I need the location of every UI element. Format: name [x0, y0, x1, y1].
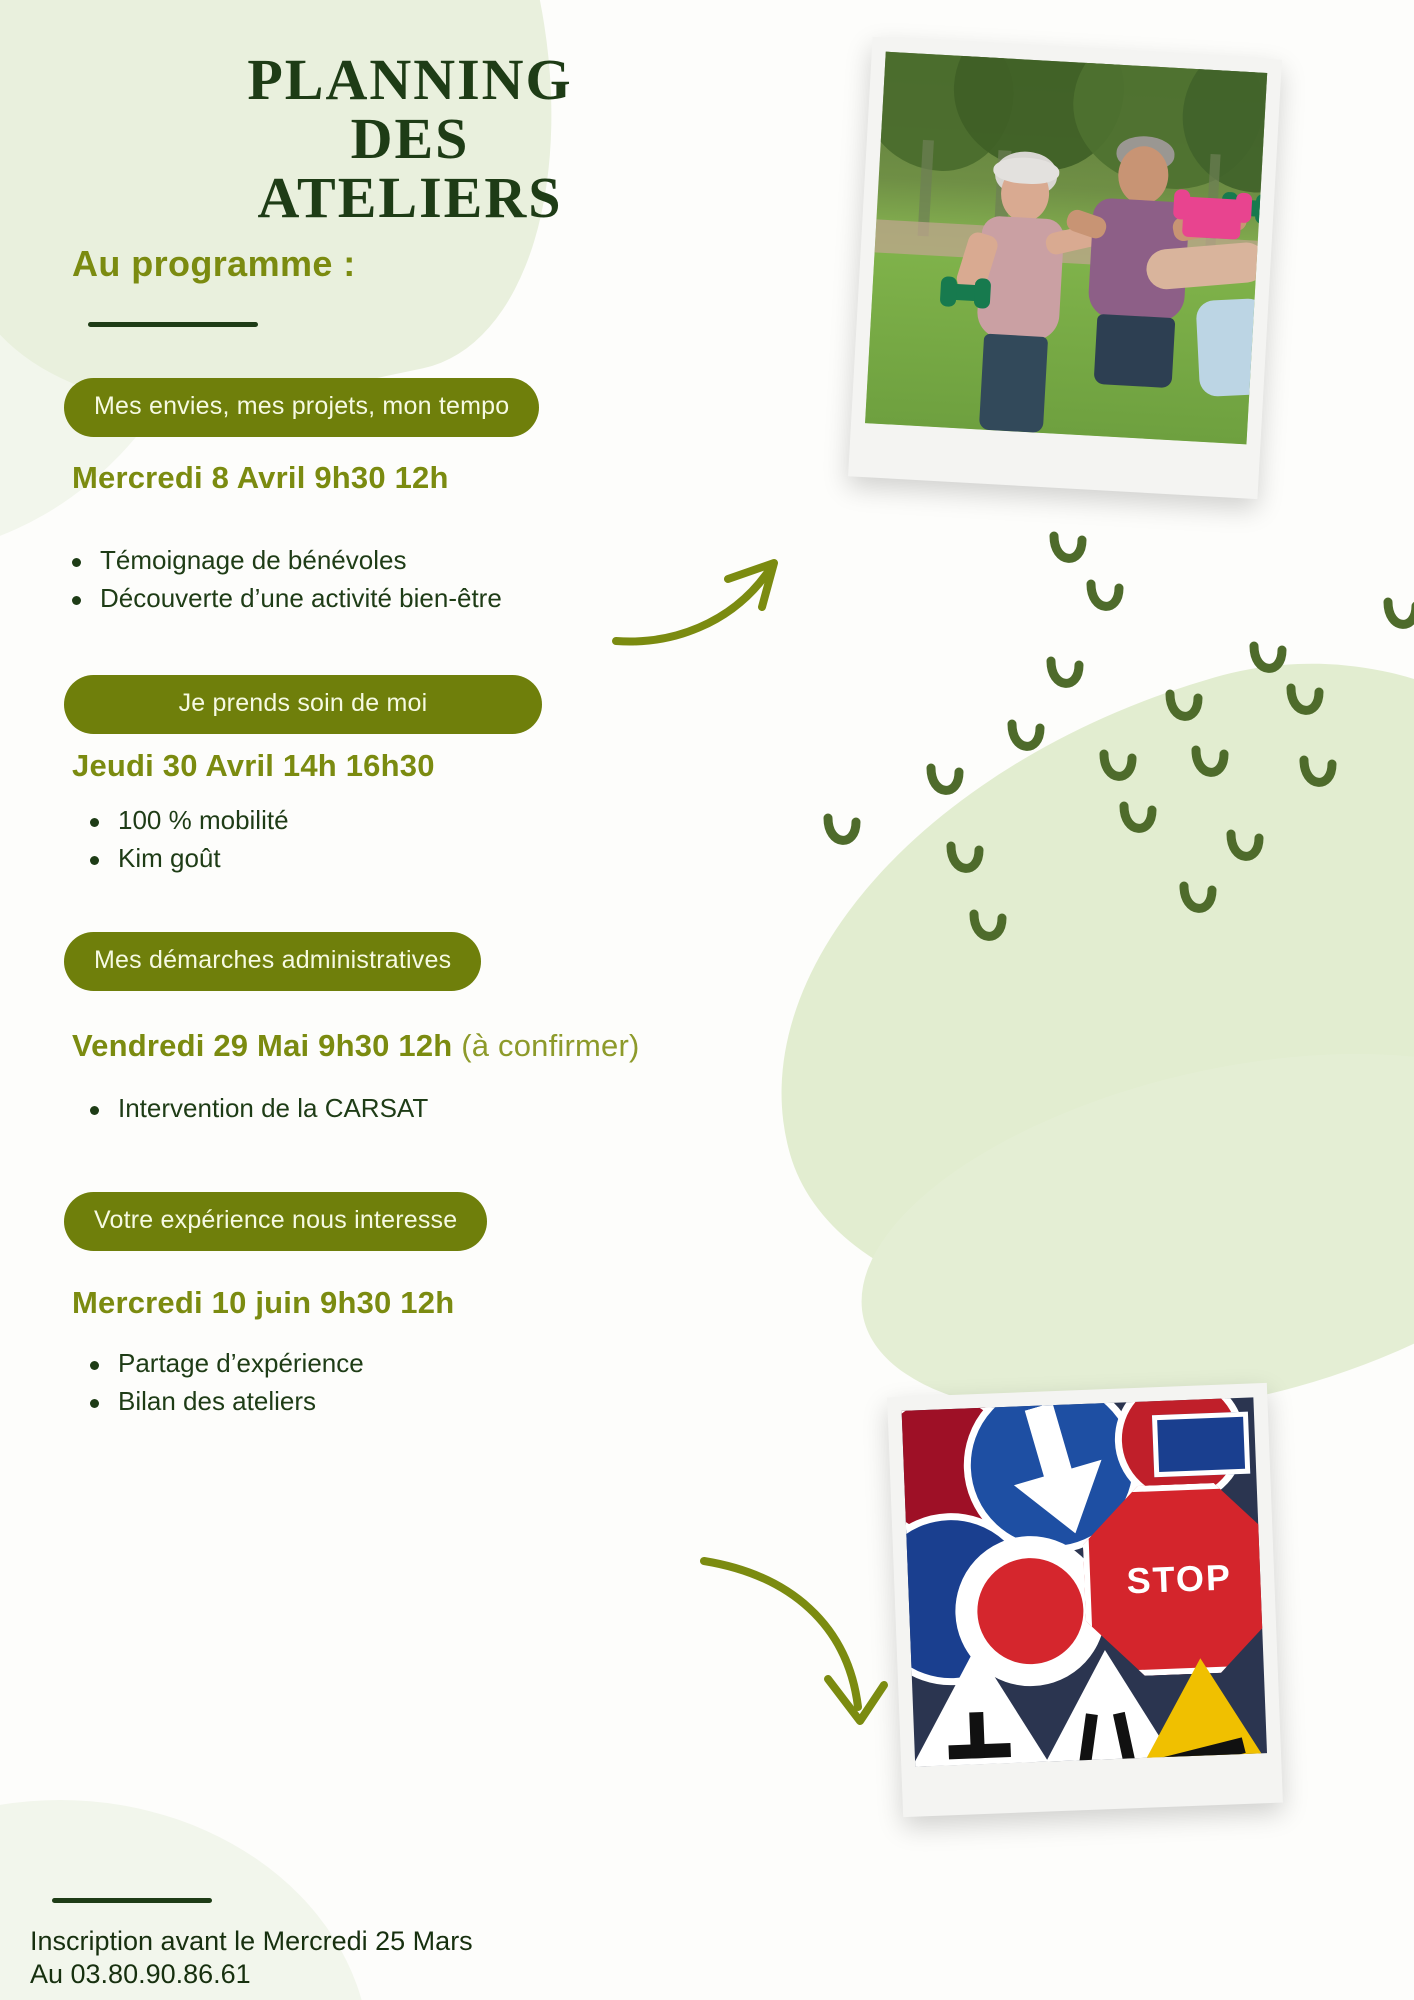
photo-card-road-signs: STOP: [887, 1383, 1283, 1817]
confetti-tick-icon: [1225, 828, 1265, 872]
confetti-tick-icon: [1085, 578, 1125, 622]
poster-canvas: PLANNING DES ATELIERS Au programme : Mes…: [0, 0, 1414, 2000]
list-item: Partage d’expérience: [84, 1345, 364, 1383]
foreground-sleeve: [1196, 298, 1268, 397]
page-title: PLANNING DES ATELIERS: [200, 50, 620, 227]
footer-contact: Inscription avant le Mercredi 25 Mars Au…: [30, 1925, 473, 1992]
sign-rect-blue: [1152, 1412, 1250, 1478]
section-bullets-2: 100 % mobilité Kim goût: [84, 802, 289, 878]
confetti-tick-icon: [945, 840, 985, 884]
section-pill-4: Votre expérience nous interesse: [64, 1192, 487, 1251]
confetti-tick-icon: [1285, 682, 1325, 726]
confetti-tick-icon: [925, 762, 965, 806]
list-item: Découverte d’une activité bien-être: [66, 580, 502, 618]
curved-arrow-down-icon: [700, 1555, 900, 1755]
image-traffic-signs: STOP: [902, 1397, 1267, 1766]
section-date-1: Mercredi 8 Avril 9h30 12h: [72, 460, 449, 496]
subtitle: Au programme :: [72, 243, 356, 285]
image-seniors-exercising: [865, 52, 1267, 445]
section-bullets-1: Témoignage de bénévoles Découverte d’une…: [66, 542, 502, 618]
section-bullets-4: Partage d’expérience Bilan des ateliers: [84, 1345, 364, 1421]
section-date-3: Vendredi 29 Mai 9h30 12h (à confirmer): [72, 1028, 640, 1064]
dumbbell-green: [950, 284, 981, 302]
divider-top: [88, 322, 258, 327]
confetti-tick-icon: [1006, 718, 1046, 762]
confetti-tick-icon: [1045, 655, 1085, 699]
confetti-tick-icon: [1248, 640, 1288, 684]
confetti-tick-icon: [1190, 744, 1230, 788]
divider-bottom: [52, 1898, 212, 1903]
title-line-2: DES: [200, 109, 620, 168]
section-date-4: Mercredi 10 juin 9h30 12h: [72, 1285, 454, 1321]
title-line-1: PLANNING: [200, 50, 620, 109]
confetti-tick-icon: [1164, 688, 1204, 732]
footer-line-1: Inscription avant le Mercredi 25 Mars: [30, 1925, 473, 1958]
photo-card-fitness: [848, 37, 1282, 499]
section-pill-2: Je prends soin de moi: [64, 675, 542, 734]
confetti-tick-icon: [1048, 530, 1088, 574]
list-item: 100 % mobilité: [84, 802, 289, 840]
section-date-2: Jeudi 30 Avril 14h 16h30: [72, 748, 435, 784]
footer-line-2: Au 03.80.90.86.61: [30, 1958, 473, 1991]
dumbbell-pink: [1182, 197, 1242, 240]
list-item: Kim goût: [84, 840, 289, 878]
section-date-3-note: (à confirmer): [461, 1028, 639, 1063]
confetti-tick-icon: [1382, 596, 1414, 640]
list-item: Bilan des ateliers: [84, 1383, 364, 1421]
curved-arrow-up-icon: [610, 545, 810, 665]
confetti-tick-icon: [1298, 754, 1338, 798]
title-line-3: ATELIERS: [200, 168, 620, 227]
list-item: Intervention de la CARSAT: [84, 1090, 428, 1128]
section-pill-1: Mes envies, mes projets, mon tempo: [64, 378, 539, 437]
list-item: Témoignage de bénévoles: [66, 542, 502, 580]
stop-sign-label: STOP: [1126, 1556, 1233, 1602]
section-pill-3: Mes démarches administratives: [64, 932, 481, 991]
confetti-tick-icon: [1118, 800, 1158, 844]
confetti-tick-icon: [1098, 748, 1138, 792]
confetti-tick-icon: [968, 908, 1008, 952]
confetti-tick-icon: [822, 812, 862, 856]
section-date-3-text: Vendredi 29 Mai 9h30 12h: [72, 1028, 452, 1063]
leaf-shape-right: [696, 578, 1414, 1422]
section-bullets-3: Intervention de la CARSAT: [84, 1090, 428, 1128]
confetti-tick-icon: [1178, 880, 1218, 924]
